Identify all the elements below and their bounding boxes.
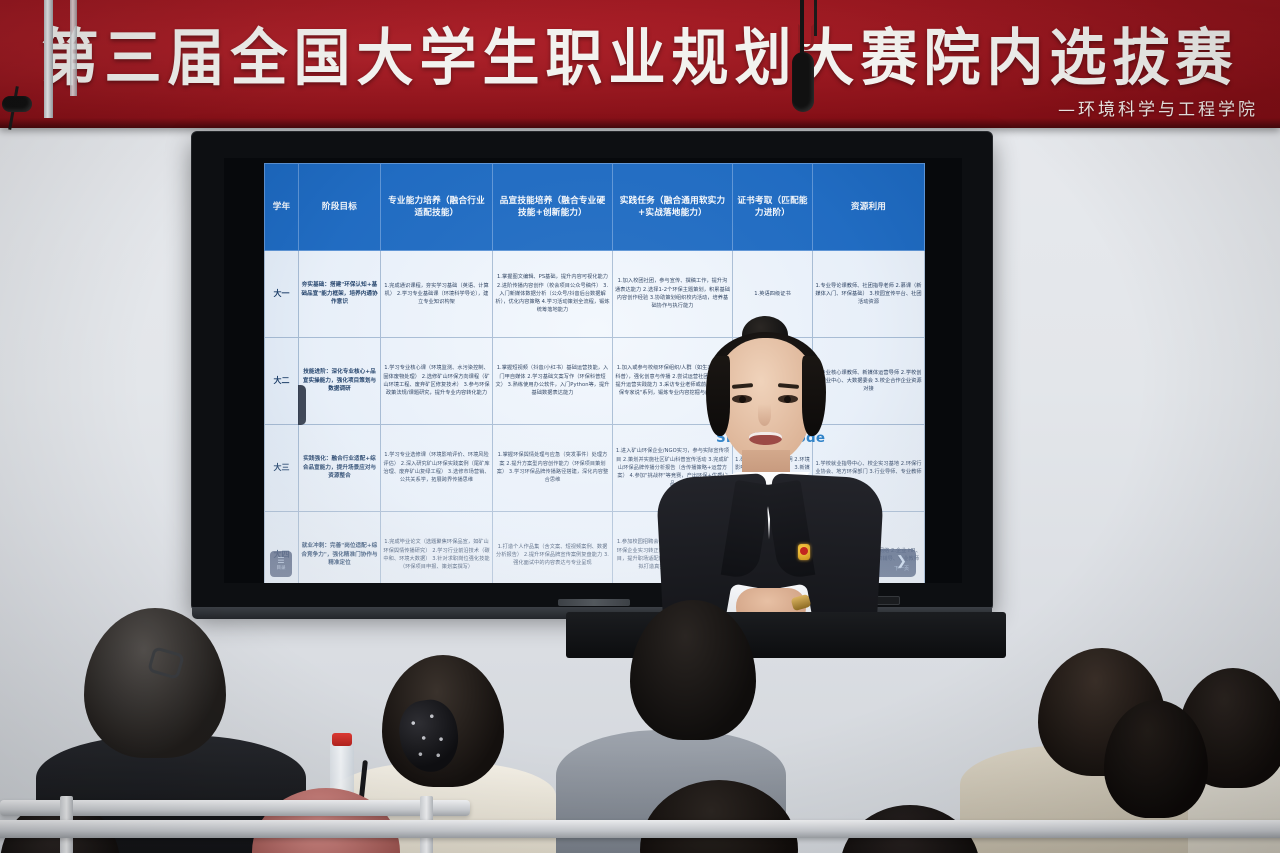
cell-professional: 1.学习专业选修课（环境影响评价、环境风险评估） 2.深入研究矿山环保实践案例（… — [381, 425, 493, 512]
hanging-microphone-icon-2 — [2, 96, 32, 112]
microphone-wire — [800, 0, 804, 60]
cell-professional: 1.完成毕业论文（选题聚焦环保品宣，如矿山环保舆情传播研究） 2.学习行业前沿技… — [381, 512, 493, 584]
ceiling-pole-left — [44, 0, 53, 118]
cell-branding: 1.打造个人作品集（含文案、短视频案例、数据分析报告） 2.提升环保品牌宣传案例… — [493, 512, 613, 584]
cell-goal: 就业冲刺：完善"岗位适配+综合竞争力"，强化精准门协作与精准定位 — [299, 512, 381, 584]
podium-table — [566, 612, 1006, 658]
table-header-row: 学年 阶段目标 专业能力培养（融合行业适配技能） 品宣技能培养（融合专业硬技能+… — [265, 164, 925, 251]
col-header-branding: 品宣技能培养（融合专业硬技能+创新能力） — [493, 164, 613, 251]
banner-title: 第三届全国大学生职业规划大赛院内选拔赛 — [6, 9, 1274, 98]
scene-root: 第三届全国大学生职业规划大赛院内选拔赛 —环境科学与工程学院 学年 阶段目标 专… — [0, 0, 1280, 853]
mouth — [749, 432, 782, 445]
cell-goal: 实践强化：融合行业适配+综合品宣能力，提升场景应对与资源整合 — [299, 425, 381, 512]
col-header-resources: 资源利用 — [813, 164, 925, 251]
pupil-right — [784, 396, 791, 403]
microphone-wire-2 — [814, 0, 817, 36]
slide-menu-label: 目录 — [277, 565, 286, 571]
hair-side-left — [706, 356, 730, 436]
edge-drawer-handle[interactable] — [298, 385, 306, 425]
col-header-practice: 实践任务（融合通用软实力+实战落地能力） — [613, 164, 733, 251]
lapel-badge-pin — [798, 544, 810, 560]
cell-branding: 1.掌握环保舆情处理与应急（突发事件）处理方案 2.提升方案型内容创作能力（环保… — [493, 425, 613, 512]
cell-branding: 1.掌握图文编辑、PS基础，提升内容可视化能力 2.进阶传播内容创作（校会项目公… — [493, 251, 613, 338]
hanging-microphone-icon — [792, 52, 814, 112]
seat-railing — [0, 820, 1280, 838]
col-header-professional: 专业能力培养（融合行业适配技能） — [381, 164, 493, 251]
nose — [758, 404, 771, 426]
event-banner: 第三届全国大学生职业规划大赛院内选拔赛 —环境科学与工程学院 — [0, 0, 1280, 128]
slide-menu-button[interactable]: ☰ 目录 — [270, 551, 292, 577]
cell-branding: 1.掌握短视频（抖音/小红书）基础运营技能，入门甲自媒体 2.学习基础文案写作（… — [493, 338, 613, 425]
cell-year: 大二 — [265, 338, 299, 425]
bottle-cap — [332, 733, 352, 746]
hair-side-right — [802, 356, 826, 436]
cell-professional: 1.学习专业核心课（环境监测、水污染控制、固体废物处理） 2.选修矿山环保方向课… — [381, 338, 493, 425]
banner-subtitle: —环境科学与工程学院 — [1058, 95, 1258, 120]
pupil-left — [739, 396, 746, 403]
ceiling-pole-left-2 — [70, 0, 77, 96]
cell-professional: 1.完成通识课程，夯实学习基础（英语、计算机） 2.学习专业基础课（环境科学导论… — [381, 251, 493, 338]
cell-goal: 夯实基础：搭建"环保认知+基础品宣"能力框架，培养内通协作意识 — [299, 251, 381, 338]
cell-year: 大一 — [265, 251, 299, 338]
cell-goal: 技能进阶：深化专业核心+品宣实操能力，强化项目策划与数据调研 — [299, 338, 381, 425]
presenter — [620, 300, 940, 640]
col-header-certificate: 证书考取（匹配能力进阶） — [733, 164, 813, 251]
col-header-goal: 阶段目标 — [299, 164, 381, 251]
cell-year: 大三 — [265, 425, 299, 512]
col-header-year: 学年 — [265, 164, 299, 251]
